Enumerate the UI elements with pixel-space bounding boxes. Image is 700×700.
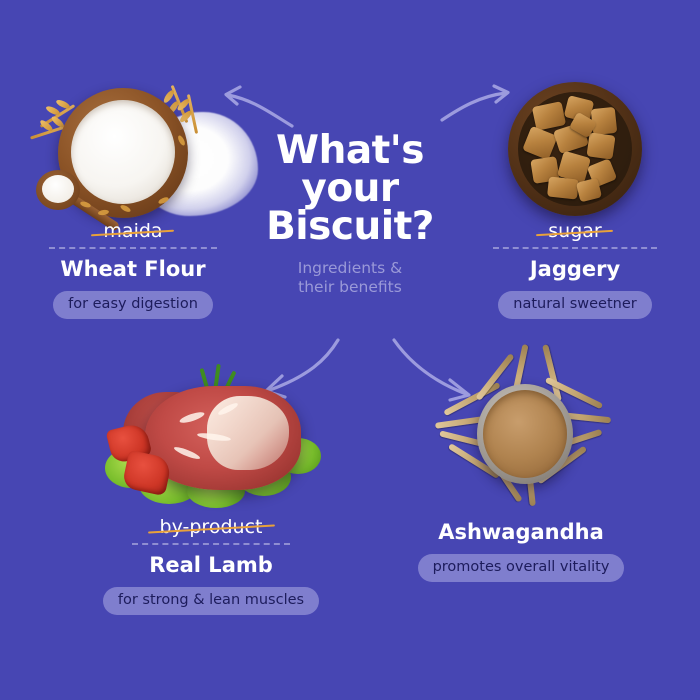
center-heading-block: What's your Biscuit? Ingredients & their…	[248, 132, 452, 297]
ingredient-card-real-lamb: by-product Real Lamb for strong & lean m…	[70, 362, 352, 615]
divider-dashed	[49, 247, 217, 249]
divider-dashed	[132, 543, 290, 545]
page-subtitle: Ingredients & their benefits	[248, 259, 452, 298]
ingredient-name: Real Lamb	[70, 555, 352, 576]
benefit-badge: natural sweetner	[498, 291, 651, 319]
ingredient-card-jaggery: sugar Jaggery natural sweetner	[455, 78, 695, 319]
jaggery-image	[500, 78, 650, 218]
title-line-1: What's	[248, 132, 452, 170]
ingredient-name: Ashwagandha	[380, 522, 662, 543]
benefit-badge: promotes overall vitality	[418, 554, 625, 582]
ingredient-card-ashwagandha: Ashwagandha promotes overall vitality	[380, 366, 662, 582]
benefit-badge: for strong & lean muscles	[103, 587, 319, 615]
ashwagandha-image	[431, 366, 611, 506]
page-title: What's your Biscuit?	[248, 132, 452, 247]
infographic-poster: What's your Biscuit? Ingredients & their…	[0, 0, 700, 700]
ingredient-card-wheat-flour: maida Wheat Flour for easy digestion	[8, 78, 258, 319]
struck-label-maida: maida	[97, 222, 168, 241]
subtitle-line-2: their benefits	[248, 278, 452, 297]
benefit-badge: for easy digestion	[53, 291, 213, 319]
ingredient-name: Jaggery	[455, 259, 695, 280]
ingredient-name: Wheat Flour	[8, 259, 258, 280]
struck-label-sugar: sugar	[542, 222, 607, 241]
struck-label-by-product: by-product	[154, 518, 269, 537]
real-lamb-image	[87, 362, 335, 514]
divider-dashed	[493, 247, 657, 249]
subtitle-line-1: Ingredients &	[248, 259, 452, 278]
title-line-2: your	[248, 170, 452, 208]
title-line-3: Biscuit?	[248, 208, 452, 246]
wheat-flour-image	[28, 78, 238, 218]
